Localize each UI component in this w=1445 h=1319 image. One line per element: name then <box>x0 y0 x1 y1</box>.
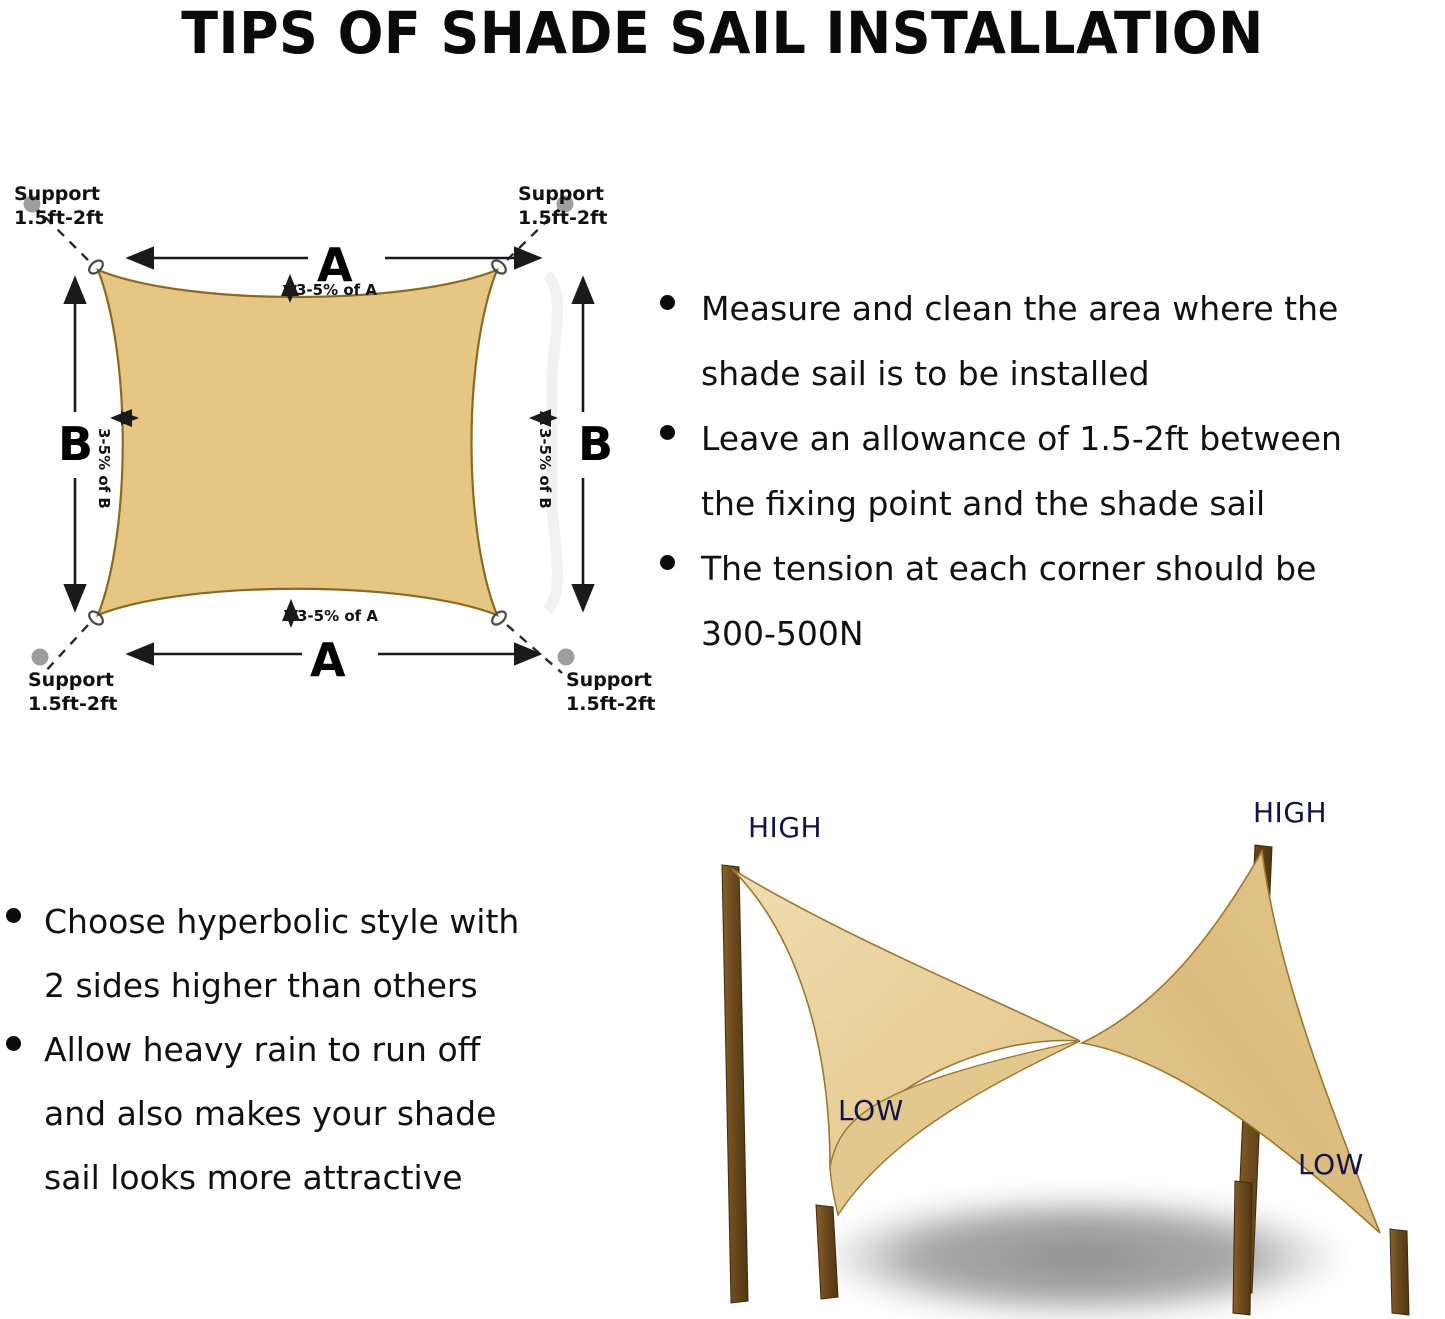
installation-tips-list-top: Measure and clean the area where the sha… <box>655 276 1445 666</box>
support-label-top-left: Support 1.5ft-2ft <box>14 182 103 230</box>
bullet-dot-icon <box>6 908 21 923</box>
support-label-line1: Support <box>28 668 117 692</box>
ground-shadow <box>820 1195 1340 1319</box>
support-label-line2: 1.5ft-2ft <box>518 206 607 230</box>
list-item-line: Choose hyperbolic style with <box>0 890 620 954</box>
list-item: Measure and clean the area where the sha… <box>655 276 1445 406</box>
hyperbolic-sail-illustration: HIGH HIGH LOW LOW <box>690 785 1445 1319</box>
support-label-line1: Support <box>566 668 655 692</box>
support-label-line2: 1.5ft-2ft <box>14 206 103 230</box>
list-item-line: Leave an allowance of 1.5-2ft between <box>655 406 1445 471</box>
bullet-dot-icon <box>6 1036 21 1051</box>
pole-high-left <box>722 865 748 1303</box>
bullet-dot-icon <box>660 295 675 310</box>
dimension-label-b-left: B <box>58 421 93 467</box>
installation-tips-list-bottom: Choose hyperbolic style with 2 sides hig… <box>0 890 620 1210</box>
label-high-right: HIGH <box>1253 798 1327 828</box>
curve-depth-label-left: 3-5% of B <box>96 428 112 509</box>
support-label-bottom-left: Support 1.5ft-2ft <box>28 668 117 716</box>
support-label-line1: Support <box>518 182 607 206</box>
pole-low-left <box>816 1205 838 1299</box>
curve-depth-label-bottom: 3-5% of A <box>297 608 378 624</box>
label-low-right: LOW <box>1298 1150 1364 1180</box>
support-label-line2: 1.5ft-2ft <box>28 692 117 716</box>
page-title: TIPS OF SHADE SAIL INSTALLATION <box>51 2 1395 64</box>
list-item-line: The tension at each corner should be <box>655 536 1445 601</box>
support-label-top-right: Support 1.5ft-2ft <box>518 182 607 230</box>
rectangular-sail-diagram: Support 1.5ft-2ft Support 1.5ft-2ft Supp… <box>0 160 680 730</box>
sail-body <box>98 270 497 615</box>
list-item: Leave an allowance of 1.5-2ft between th… <box>655 406 1445 536</box>
bullet-dot-icon <box>660 425 675 440</box>
curve-depth-label-right: 3-5% of B <box>537 428 553 509</box>
pole-low-right <box>1390 1229 1409 1315</box>
label-low-left: LOW <box>838 1096 904 1126</box>
list-item: Allow heavy rain to run off and also mak… <box>0 1018 620 1210</box>
support-label-line1: Support <box>14 182 103 206</box>
list-item-line: Measure and clean the area where the <box>655 276 1445 341</box>
list-item-line: sail looks more attractive <box>0 1146 620 1210</box>
label-high-left: HIGH <box>748 813 822 843</box>
list-item-line: 300-500N <box>655 601 1445 666</box>
list-item-line: 2 sides higher than others <box>0 954 620 1018</box>
support-label-line2: 1.5ft-2ft <box>566 692 655 716</box>
support-label-bottom-right: Support 1.5ft-2ft <box>566 668 655 716</box>
list-item: The tension at each corner should be 300… <box>655 536 1445 666</box>
hyperbolic-sail-svg <box>690 785 1445 1319</box>
list-item-line: shade sail is to be installed <box>655 341 1445 406</box>
bullet-dot-icon <box>660 555 675 570</box>
pole-mid-right <box>1233 1181 1252 1315</box>
list-item-line: Allow heavy rain to run off <box>0 1018 620 1082</box>
dimension-label-a-bottom: A <box>310 637 346 683</box>
list-item-line: the fixing point and the shade sail <box>655 471 1445 536</box>
list-item: Choose hyperbolic style with 2 sides hig… <box>0 890 620 1018</box>
curve-depth-label-top: 3-5% of A <box>296 282 377 298</box>
list-item-line: and also makes your shade <box>0 1082 620 1146</box>
dimension-label-b-right: B <box>578 421 613 467</box>
